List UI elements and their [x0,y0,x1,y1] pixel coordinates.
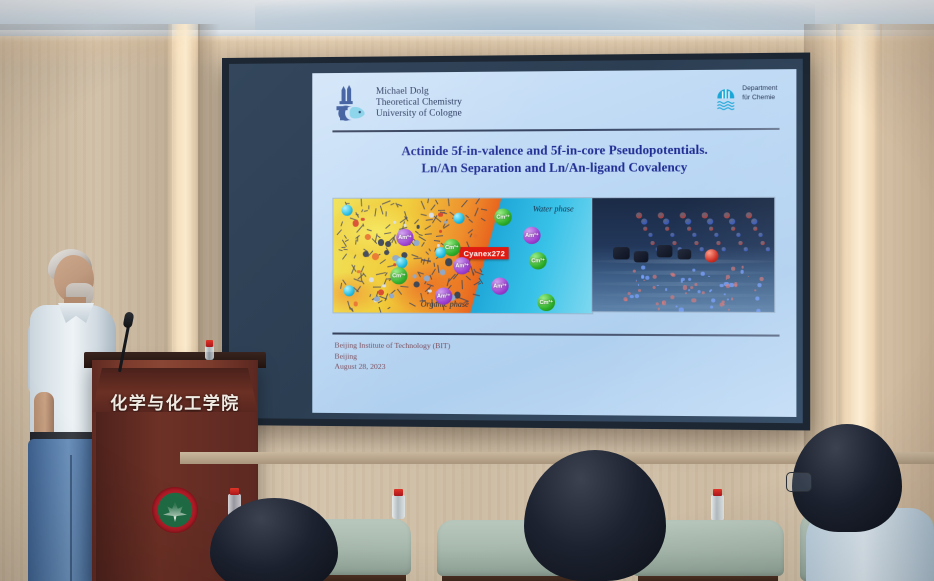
ion-cm-5: Cm³⁺ [529,252,547,269]
molecule-atom [438,212,442,216]
bottle-cap [206,340,213,347]
molecule-bond [480,217,485,221]
bottle-body [205,346,214,360]
bottle-cap [713,489,723,496]
surface-reflection [675,305,677,307]
molecule-bond [374,209,376,217]
surface-reflection [635,294,639,298]
slide-footer: Beijing Institute of Technology (BIT) Be… [334,341,450,373]
surface-contour [592,293,774,298]
central-metal-sphere [705,249,719,262]
molecule-atom [413,240,419,246]
molecule-atom [424,275,430,281]
presentation-screen: Michael Dolg Theoretical Chemistry Unive… [222,53,810,431]
surface-reflection [709,290,711,292]
molecule-atom [372,253,379,260]
surface-reflection [726,284,730,288]
ion-am-7: Am³⁺ [491,277,508,294]
ligand-block-3 [678,249,692,259]
solvent-extraction-diagram: Water phase Organic phase Cyanex272 Am³⁺… [332,197,593,314]
molecule-bond [413,219,418,225]
orbital-lobe [709,227,713,231]
surface-reflection [731,298,733,300]
orbital-lobe [636,212,642,218]
orbital-lobe [672,241,676,245]
surface-reflection [641,275,644,278]
molecule-bond [390,203,394,206]
lecture-hall-photo: Michael Dolg Theoretical Chemistry Unive… [0,0,934,581]
surface-reflection [723,293,725,295]
surface-reflection [688,277,692,281]
orbital-lobe [687,227,691,231]
molecule-atom [384,250,390,256]
orbital-lobe [663,218,669,224]
orbital-lobe [738,241,742,245]
orbital-lobe [758,233,762,237]
molecule-bond [355,239,357,244]
presentation-slide: Michael Dolg Theoretical Chemistry Unive… [312,69,796,417]
molecule-bond [401,286,409,288]
molecule-bond [361,198,363,206]
surface-reflection [701,272,705,276]
surface-reflection [682,285,687,290]
molecule-bond [476,272,484,276]
surface-reflection [755,296,759,300]
molecule-atom [353,302,358,307]
molecule-bond [421,242,425,247]
molecule-bond [475,197,481,205]
orbital-lobe [670,233,674,237]
molecule-atom [393,221,396,224]
molecule-atom [378,239,384,245]
molecule-atom [382,284,386,288]
molecule-atom [439,229,442,232]
molecule-atom [369,277,374,282]
ion-am-8: Am³⁺ [435,287,452,304]
molecule-atom [444,221,447,224]
surface-reflection [643,280,645,282]
bottle-cap [394,489,404,496]
molecule-bond [438,209,445,210]
orbital-lobe [685,218,691,224]
molecule-bond [470,233,473,237]
surface-reflection [653,274,657,278]
surface-reflection [645,276,649,280]
molecule-bond [385,224,391,229]
water-bottle-podium [205,340,214,360]
ion-cm-6: Cm³⁺ [390,267,407,284]
molecule-bond [410,303,417,307]
molecule-bond [373,286,381,287]
molecule-atom [416,225,420,229]
orbital-lobe [700,247,704,251]
orbital-lobe [753,227,757,231]
bit-emblem [152,487,198,533]
molecule-atom [445,259,452,266]
orbital-lobe [714,233,718,237]
molecule-bond [364,210,368,212]
department-chemistry-logo [715,84,736,111]
molecule-bond [481,209,487,211]
molecule-bond [344,239,349,242]
brand-line-3: University of Cologne [376,107,462,119]
molecule-bond [384,292,388,300]
orbital-lobe [744,247,748,251]
surface-reflection [759,277,763,281]
surface-reflection [672,274,675,277]
surface-reflection [688,289,690,291]
orbital-lobe [731,227,735,231]
surface-reflection [652,286,655,289]
orbital-lobe [665,227,669,231]
surface-reflection [726,275,730,279]
surface-reflection [728,308,731,311]
surface-reflection [670,295,674,299]
ion-cm-9: Cm³⁺ [537,294,555,311]
surface-reflection [690,286,693,289]
cologne-cathedral-tc-logo [334,85,368,121]
counter-ion-1 [453,213,464,224]
molecule-bond [428,249,431,253]
slide-title-line-2: Ln/An Separation and Ln/An-ligand Covale… [336,159,775,178]
orbital-lobe [707,218,713,224]
surface-reflection [726,299,728,301]
speaker-jeans-seam [70,455,72,581]
surface-reflection [747,276,749,278]
ion-am-0: Am³⁺ [396,229,413,246]
bottle-cap [230,488,240,495]
molecule-bond [338,249,343,251]
molecule-bond [360,209,363,213]
surface-reflection [656,302,659,305]
molecule-atom [474,234,478,238]
molecule-bond [369,293,371,297]
molecule-bond [386,212,387,217]
brand-line-1: Michael Dolg [376,85,462,97]
surface-reflection [754,289,757,292]
molecule-bond [380,206,384,215]
molecule-bond [473,294,480,297]
surface-reflection [756,309,760,313]
molecule-bond [340,283,342,289]
molecule-bond [466,276,471,281]
molecule-atom [389,293,394,298]
molecule-bond [432,269,437,276]
molecule-bond [354,254,357,258]
ligand-block-1 [634,251,649,262]
orbital-lobe [702,212,708,218]
molecule-bond [344,248,348,250]
surface-reflection [741,266,744,269]
orbital-lobe [761,241,765,245]
slide-header: Michael Dolg Theoretical Chemistry Unive… [334,82,777,130]
surface-reflection [731,267,735,271]
molecule-atom [357,270,360,273]
surface-reflection [681,278,685,282]
molecule-bond [421,214,427,217]
surface-reflection [679,308,683,312]
counter-ion-3 [344,285,355,296]
orbital-lobe [641,219,647,225]
attendee-glasses-right [786,472,812,492]
molecule-bond [421,201,426,210]
orbital-lobe [751,218,757,224]
water-bottle-right [711,489,724,521]
water-phase-label: Water phase [533,204,574,213]
surface-reflection [757,283,761,287]
surface-reflection [641,266,645,270]
footer-line-2: Beijing [334,351,450,362]
molecule-bond [431,204,437,210]
ion-am-3: Am³⁺ [523,227,541,244]
cologne-branding-text: Michael Dolg Theoretical Chemistry Unive… [376,84,462,119]
molecule-atom [378,289,384,295]
surface-reflection [657,285,659,287]
surface-reflection [638,289,641,292]
molecule-bond [425,251,429,255]
molecule-bond [337,229,342,235]
molecule-bond [347,300,351,309]
molecule-bond [362,280,365,284]
molecule-atom [440,269,446,275]
orbital-lobe [694,241,698,245]
ion-am-4: Am³⁺ [453,257,470,274]
molecule-bond [341,221,344,226]
department-branding-text: Department für Chemie [742,84,777,103]
molecule-bond [368,205,369,209]
molecule-bond [462,280,464,289]
molecule-bond [380,259,387,264]
molecule-atom [413,282,419,288]
department-branding: Department für Chemie [715,82,777,111]
orbital-lobe [692,233,696,237]
surface-reflection [722,301,724,303]
surface-reflection [710,305,713,308]
dept-line-1: Department [742,84,777,94]
molecule-bond [425,233,432,235]
orbital-lobe [643,227,647,231]
surface-reflection [657,308,660,311]
molecule-bond [436,235,443,237]
ligand-block-2 [657,245,673,257]
molecule-bond [427,198,429,203]
molecular-orbital-surface-render [591,197,775,313]
molecule-atom [352,220,359,227]
orbital-lobe [729,218,735,224]
counter-ion-2 [435,247,446,258]
molecule-bond [461,200,468,208]
ceiling-blue-glow [255,0,815,34]
molecule-bond [376,235,380,238]
molecule-bond [342,254,347,260]
molecule-bond [434,240,440,242]
dept-line-2: für Chemie [742,93,777,102]
orbital-lobe [716,241,720,245]
cologne-branding: Michael Dolg Theoretical Chemistry Unive… [334,84,462,121]
orbital-lobe [746,212,752,218]
screen-background: Michael Dolg Theoretical Chemistry Unive… [229,59,803,423]
brand-line-2: Theoretical Chemistry [376,96,462,108]
molecule-bond [396,289,401,295]
footer-line-1: Beijing Institute of Technology (BIT) [334,341,450,352]
orbital-lobe [648,233,652,237]
molecule-atom [429,213,434,218]
molecule-bond [468,219,473,223]
surface-contour [592,271,774,275]
counter-ion-0 [342,205,353,216]
molecule-bond [384,232,391,234]
surface-reflection [697,290,700,293]
molecule-atom [413,274,417,278]
molecule-bond [367,228,373,231]
surface-reflection [691,298,696,303]
molecule-atom [385,241,391,247]
bottle-body [392,495,405,519]
molecule-bond [447,197,449,206]
surface-reflection [665,288,668,291]
molecule-bond [418,236,426,241]
orbital-lobe [736,233,740,237]
water-bottle-center [392,489,405,519]
molecule-bond [382,201,391,206]
orbital-lobe [724,212,730,218]
slide-title-line-1: Actinide 5f-in-valence and 5f-in-core Ps… [336,141,775,160]
bottle-body [711,495,724,521]
molecule-atom [428,289,432,293]
molecule-bond [379,307,383,314]
surface-reflection [708,275,710,277]
molecule-atom [362,251,368,257]
molecule-atom [361,217,365,221]
ion-cm-2: Cm³⁺ [494,209,511,226]
molecule-atom [404,224,407,227]
molecule-bond [433,262,435,266]
slide-footer-divider [332,333,779,337]
surface-contour [592,259,774,263]
orbital-lobe [650,241,654,245]
cyanex272-label: Cyanex272 [459,247,509,259]
molecule-atom [374,296,379,301]
orbital-lobe [680,212,686,218]
molecule-bond [474,208,478,217]
surface-reflection [734,284,737,287]
ligand-block-0 [613,247,630,259]
orbital-lobe [766,247,770,251]
podium-sign-text: 化学与化工学院 [92,389,258,414]
molecule-bond [387,307,390,310]
slide-title: Actinide 5f-in-valence and 5f-in-core Ps… [336,141,775,177]
molecule-bond [424,225,431,230]
molecule-bond [342,280,346,285]
surface-reflection [719,284,723,288]
molecule-atom [365,234,371,240]
footer-line-3: August 28, 2023 [334,362,450,373]
molecule-bond [363,223,365,227]
orbital-lobe [722,247,726,251]
orbital-lobe [658,212,664,218]
surface-reflection [711,298,715,302]
surface-reflection [630,295,633,298]
